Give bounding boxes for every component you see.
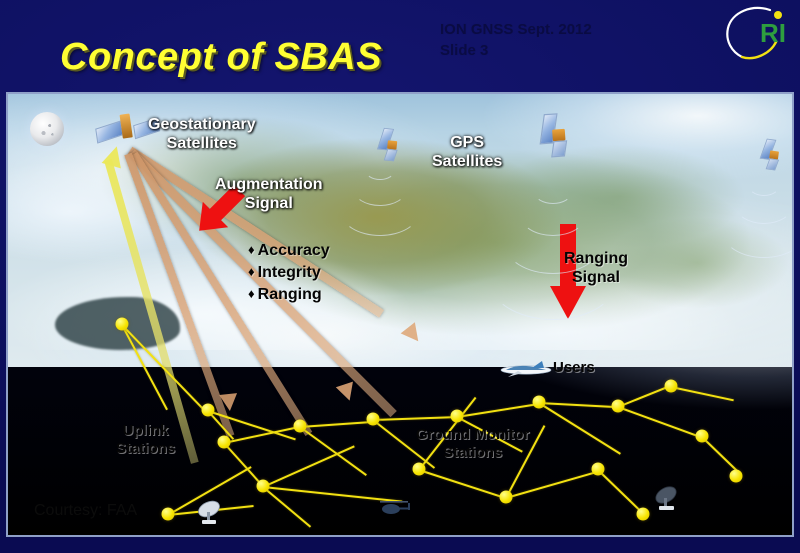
diamond-bullet-icon: ♦ xyxy=(248,286,255,301)
monitor-dish-icon xyxy=(652,486,682,512)
label-geostationary-line2: Satellites xyxy=(148,135,256,154)
label-ranging-signal: Ranging Signal xyxy=(564,250,628,288)
label-users: Users xyxy=(553,359,595,377)
ground-node xyxy=(592,463,605,476)
gps-satellite-icon-3 xyxy=(761,138,786,169)
ground-node xyxy=(202,404,215,417)
ground-node xyxy=(730,470,743,483)
ground-node xyxy=(500,491,513,504)
label-ranging-line1: Ranging xyxy=(564,250,628,269)
benefit-bullet-list: ♦Accuracy ♦Integrity ♦Ranging xyxy=(248,239,330,305)
bullet-item: ♦Integrity xyxy=(248,261,330,283)
gps-satellite-icon-2 xyxy=(541,112,574,155)
label-augmentation-line2: Signal xyxy=(215,195,323,214)
moon-icon xyxy=(30,112,64,146)
ri-logo-text: RI xyxy=(760,18,786,48)
label-ground-monitor-line2: Stations xyxy=(416,444,529,462)
label-gps-line2: Satellites xyxy=(432,153,502,172)
label-courtesy: Courtesy: FAA xyxy=(34,502,137,521)
label-uplink-stations: Uplink Stations xyxy=(116,422,175,457)
ground-node xyxy=(665,380,678,393)
uplink-dish-icon xyxy=(196,500,226,526)
sbas-diagram-image: Geostationary Satellites GPS Satellites … xyxy=(6,92,794,537)
slide-meta: ION GNSS Sept. 2012 Slide 3 xyxy=(440,19,592,61)
label-geostationary-line1: Geostationary xyxy=(148,116,256,135)
label-geostationary-satellites: Geostationary Satellites xyxy=(148,116,256,154)
slide-root: Concept of SBAS ION GNSS Sept. 2012 Slid… xyxy=(0,0,800,553)
bullet-label: Accuracy xyxy=(258,242,330,259)
label-augmentation-line1: Augmentation xyxy=(215,176,323,195)
airliner-icon xyxy=(498,359,554,379)
ground-node xyxy=(218,436,231,449)
diamond-bullet-icon: ♦ xyxy=(248,264,255,279)
ground-node xyxy=(413,463,426,476)
label-ground-monitor-stations: Ground Monitor Stations xyxy=(416,426,529,461)
slide-meta-number: Slide 3 xyxy=(440,40,592,61)
label-uplink-line1: Uplink xyxy=(116,422,175,440)
label-gps-satellites: GPS Satellites xyxy=(432,134,502,172)
ground-node xyxy=(257,480,270,493)
ground-node xyxy=(696,430,709,443)
ground-node xyxy=(294,420,307,433)
ground-node xyxy=(116,318,129,331)
ground-node xyxy=(162,508,175,521)
diamond-bullet-icon: ♦ xyxy=(248,242,255,257)
bullet-item: ♦Ranging xyxy=(248,283,330,305)
gps-satellite-icon-1 xyxy=(378,128,403,161)
ground-node xyxy=(533,396,546,409)
label-augmentation-signal: Augmentation Signal xyxy=(215,176,323,214)
helicopter-icon xyxy=(378,499,412,515)
ri-logo: RI xyxy=(708,2,792,64)
beam-arrowhead-3 xyxy=(219,393,239,412)
bullet-label: Integrity xyxy=(258,264,321,281)
label-gps-line1: GPS xyxy=(432,134,502,153)
page-title: Concept of SBAS xyxy=(60,36,382,79)
ground-node xyxy=(367,413,380,426)
bullet-label: Ranging xyxy=(258,286,322,303)
ground-node xyxy=(637,508,650,521)
ground-node xyxy=(612,400,625,413)
label-ground-monitor-line1: Ground Monitor xyxy=(416,426,529,444)
label-uplink-line2: Stations xyxy=(116,440,175,458)
label-ranging-line2: Signal xyxy=(564,269,628,288)
bullet-item: ♦Accuracy xyxy=(248,239,330,261)
ground-node xyxy=(451,410,464,423)
slide-meta-conference: ION GNSS Sept. 2012 xyxy=(440,19,592,40)
